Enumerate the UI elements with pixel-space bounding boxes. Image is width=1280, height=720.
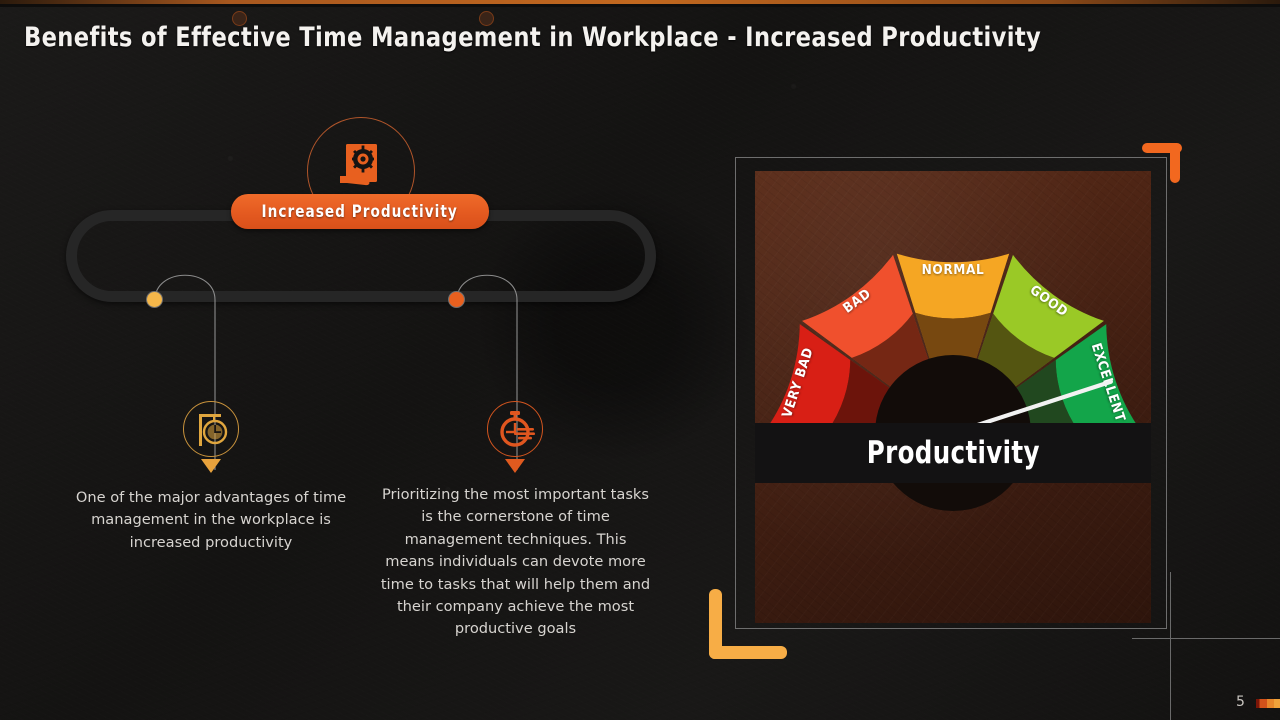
document-gear-hand-icon <box>337 142 385 194</box>
badge-label: Increased Productivity <box>262 202 458 221</box>
top-accent-shadow <box>0 4 1280 7</box>
gauge-title: Productivity <box>866 435 1039 471</box>
gauge-title-band: Productivity <box>755 423 1151 483</box>
corner-bracket-top-right-vertical <box>1170 143 1180 183</box>
badge-cap-left <box>232 11 247 26</box>
gauge-image: VERY BADBADNORMALGOODEXCELLENT Productiv… <box>755 171 1151 623</box>
guide-line-vertical <box>1170 572 1171 720</box>
track-node-right[interactable] <box>448 291 465 308</box>
node-icon-circle-right[interactable] <box>487 401 543 457</box>
node-caret-right <box>505 459 525 473</box>
connector-arcs <box>60 255 680 470</box>
gauge-chart: VERY BADBADNORMALGOODEXCELLENT <box>755 171 1151 623</box>
gauge-segment-label: NORMAL <box>922 262 985 278</box>
guide-line-horizontal <box>1132 638 1280 639</box>
hanging-clock-sign-icon <box>184 402 240 458</box>
badge-pill[interactable]: Increased Productivity <box>231 194 489 229</box>
corner-bracket-bottom-left-horizontal <box>709 646 787 659</box>
track-node-left[interactable] <box>146 291 163 308</box>
blurb-text-left: One of the major advantages of time mana… <box>66 487 356 554</box>
blurb-text-right: Prioritizing the most important tasks is… <box>378 484 653 641</box>
badge-cap-right <box>479 11 494 26</box>
node-caret-left <box>201 459 221 473</box>
page-title: Benefits of Effective Time Management in… <box>24 22 991 53</box>
stopwatch-speed-icon <box>488 402 544 458</box>
page-number: 5 <box>1236 694 1245 710</box>
page-accent-bar <box>1256 699 1280 708</box>
node-icon-circle-left[interactable] <box>183 401 239 457</box>
